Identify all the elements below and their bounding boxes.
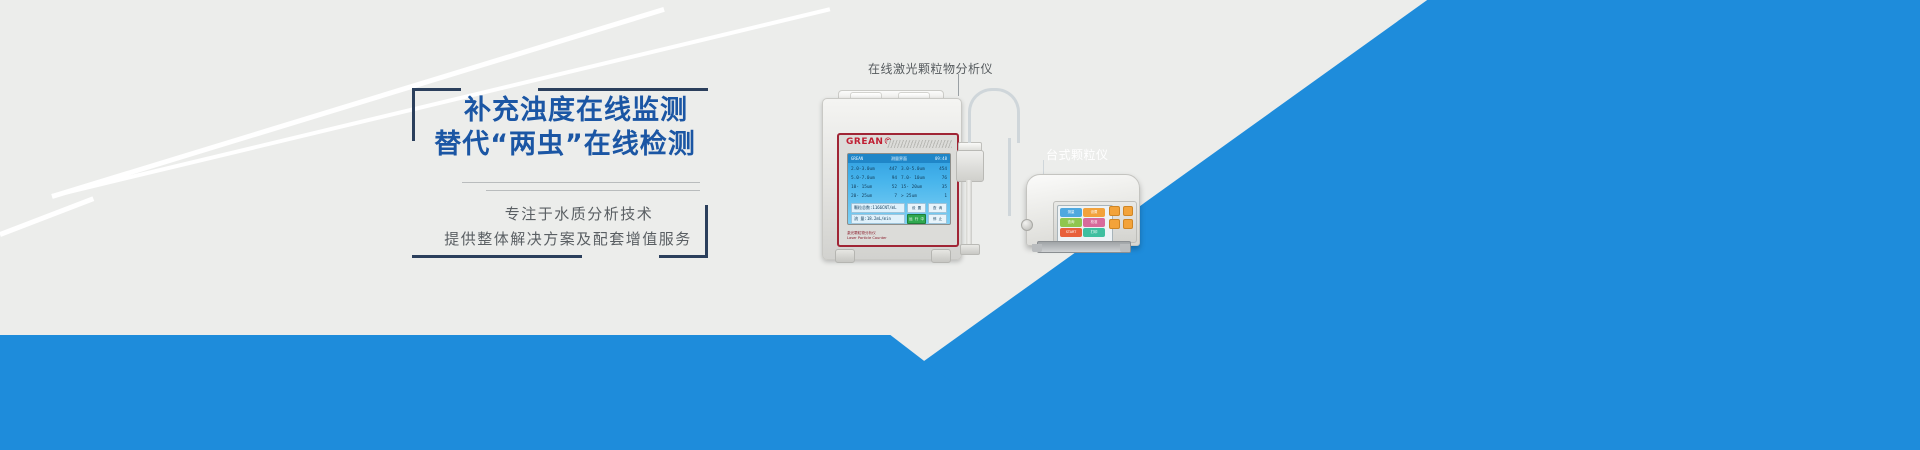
bench-tile-query[interactable]: 查询 [1060, 218, 1082, 227]
table-row: 5.0-7.0um 94 7.0- 10um 76 [851, 174, 947, 183]
cell-count-a: 52 [877, 185, 901, 190]
cell-count-a: 94 [877, 176, 901, 181]
lcd-title-right: 09:48 [935, 156, 947, 161]
bench-key-1[interactable] [1109, 206, 1120, 216]
cell-count-a: 7 [877, 194, 901, 199]
bracket-top-line [538, 88, 708, 91]
bench-tile-calibrate[interactable]: 校准 [1083, 218, 1105, 227]
divider-line-1 [462, 182, 700, 183]
cell-count-b: 35 [927, 185, 947, 190]
headline-line-1: 补充浊度在线监测 [422, 94, 708, 128]
bench-sample-tray [1037, 241, 1131, 253]
analyzer-vent-grille [887, 140, 952, 148]
table-row: 20- 25um 7 > 25um 1 [851, 192, 947, 201]
cell-size-b: 3.0-5.0um [901, 167, 927, 172]
analyzer-front-panel: GREAN® GREAN 测量界面 09:48 2.0-3.0um 447 [837, 133, 959, 247]
status-flow-rate: 流 量:18.2mL/min [851, 214, 905, 224]
subtitle: 专注于水质分析技术 提供整体解决方案及配套增值服务 [432, 202, 698, 252]
cell-size-a: 20- 25um [851, 194, 877, 199]
table-row: 2.0-3.0um 447 3.0-5.0um 454 [851, 165, 947, 174]
table-row: 10- 15um 52 15- 20um 35 [851, 183, 947, 192]
cell-count-b: 1 [927, 194, 947, 199]
lcd-status-row-2: 流 量:18.2mL/min 运 行 中 停 止 [851, 214, 947, 224]
label-bench-counter: 台式颗粒仪 [1046, 146, 1109, 163]
analyzer-mounting-stem [966, 180, 972, 246]
bench-tile-measure[interactable]: 测量 [1060, 208, 1082, 217]
bench-tile-start[interactable]: START [1060, 228, 1082, 237]
bench-touchscreen[interactable]: 测量 设置 查询 校准 START 打印 [1057, 205, 1113, 243]
bench-key-4[interactable] [1123, 219, 1134, 229]
bench-key-3[interactable] [1109, 219, 1120, 229]
lcd-button-query[interactable]: 查 询 [928, 203, 947, 213]
lcd-button-stop[interactable]: 停 止 [928, 214, 947, 224]
bench-foot-left [1032, 244, 1042, 252]
cell-count-a: 447 [877, 167, 901, 172]
bench-body: 测量 设置 查询 校准 START 打印 [1026, 174, 1140, 246]
bench-foot-right [1120, 244, 1130, 252]
analyzer-body: GREAN® GREAN 测量界面 09:48 2.0-3.0um 447 [822, 98, 962, 260]
bench-tile-print[interactable]: 打印 [1083, 228, 1105, 237]
lcd-status-area: 颗粒总数:1166CNT/mL 设 置 查 询 流 量:18.2mL/min 运… [848, 201, 950, 225]
divider-group [454, 182, 700, 191]
cell-size-b: > 25um [901, 194, 927, 199]
analyzer-mounting-foot [960, 244, 980, 255]
cell-size-a: 5.0-7.0um [851, 176, 877, 181]
analyzer-inlet-port [835, 249, 855, 263]
lcd-title-center: 测量界面 [891, 156, 907, 162]
benchtop-particle-counter: 测量 设置 查询 校准 START 打印 [1026, 168, 1146, 260]
lcd-title-left: GREAN [851, 156, 863, 161]
analyzer-brand-bar: GREAN® [839, 135, 957, 151]
brand-text: GREAN [846, 137, 883, 147]
online-laser-particle-analyzer: GREAN® GREAN 测量界面 09:48 2.0-3.0um 447 [818, 84, 964, 266]
headline-block: 补充浊度在线监测 替代“两虫”在线检测 专注于水质分析技术 提供整体解决方案及配… [412, 88, 708, 258]
lcd-title-bar: GREAN 测量界面 09:48 [848, 154, 950, 163]
bench-control-face: 测量 设置 查询 校准 START 打印 [1053, 201, 1137, 243]
bench-tile-settings[interactable]: 设置 [1083, 208, 1105, 217]
label-online-analyzer: 在线激光颗粒物分析仪 [868, 60, 993, 77]
connecting-tube-arc [968, 88, 1020, 143]
cell-count-b: 76 [927, 176, 947, 181]
analyzer-side-valve [956, 150, 984, 182]
lcd-button-running[interactable]: 运 行 中 [907, 214, 926, 224]
cell-count-b: 454 [927, 167, 947, 172]
headline-line-2: 替代“两虫”在线检测 [422, 128, 708, 162]
cell-size-b: 7.0- 10um [901, 176, 927, 181]
analyzer-brand-logo: GREAN® [846, 137, 893, 147]
bench-side-port [1021, 219, 1033, 231]
analyzer-model-text: 激光颗粒物分析仪 Laser Particle Counter [847, 231, 887, 241]
subtitle-line-2: 提供整体解决方案及配套增值服务 [432, 227, 698, 252]
cell-size-b: 15- 20um [901, 185, 927, 190]
lcd-button-settings[interactable]: 设 置 [907, 203, 926, 213]
bench-key-2[interactable] [1123, 206, 1134, 216]
headline: 补充浊度在线监测 替代“两虫”在线检测 [422, 94, 708, 162]
bracket-bottom-line [412, 255, 582, 258]
subtitle-line-1: 专注于水质分析技术 [432, 202, 698, 227]
analyzer-lcd-screen[interactable]: GREAN 测量界面 09:48 2.0-3.0um 447 3.0-5.0um… [847, 153, 951, 225]
cell-size-a: 2.0-3.0um [851, 167, 877, 172]
promo-banner: 补充浊度在线监测 替代“两虫”在线检测 专注于水质分析技术 提供整体解决方案及配… [0, 0, 1920, 450]
analyzer-outlet-port [931, 249, 951, 263]
lcd-data-table: 2.0-3.0um 447 3.0-5.0um 454 5.0-7.0um 94… [848, 163, 950, 201]
divider-line-2 [486, 190, 700, 191]
connecting-tube-drop [1008, 138, 1011, 216]
cell-size-a: 10- 15um [851, 185, 877, 190]
status-total-count: 颗粒总数:1166CNT/mL [851, 203, 905, 213]
bench-keypad[interactable] [1109, 206, 1133, 229]
analyzer-model-en: Laser Particle Counter [847, 236, 887, 241]
lcd-status-row-1: 颗粒总数:1166CNT/mL 设 置 查 询 [851, 203, 947, 213]
